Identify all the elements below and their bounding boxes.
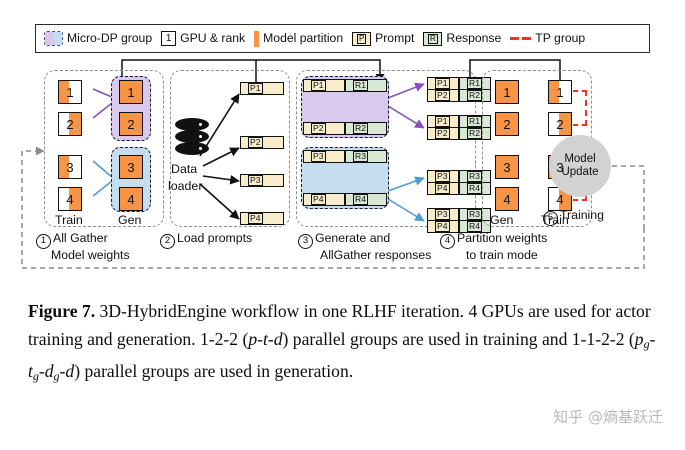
step-1-line2: Model weights: [51, 249, 130, 263]
stage4-gen-gpu-1[interactable]: 1: [495, 80, 519, 104]
step-3-line2: AllGather responses: [320, 249, 431, 263]
prompt-tag: P1: [311, 80, 326, 91]
step-number-5: 5: [543, 211, 558, 226]
prompt-tag: P3: [248, 175, 263, 186]
gpu-rank-label: 4: [496, 188, 518, 210]
data-loader-label-2: loader: [168, 180, 202, 192]
model-partition-icon: [254, 31, 259, 47]
stage3-left-row-2: P2 R2: [303, 122, 387, 135]
prompt-tag: P2: [248, 137, 263, 148]
stage5-training-label: 5Training: [543, 209, 604, 226]
caption-dg: -d: [39, 361, 54, 381]
caption-dash-1: -: [650, 329, 656, 349]
stage1-gen-gpu-1[interactable]: 1: [119, 80, 143, 104]
prompt-tag: P3: [435, 171, 450, 182]
tp-group-bracket-top: [573, 90, 587, 126]
gpu-rank-label: 4: [59, 188, 81, 210]
gpu-rank-label: 4: [549, 188, 571, 210]
stage3-left-row-1: P1 R1: [303, 79, 387, 92]
stage4-gen-gpu-2[interactable]: 2: [495, 112, 519, 136]
response-tag: R4: [467, 183, 482, 194]
stage1-train-gpu-3[interactable]: 3: [58, 155, 82, 179]
gpu-rank-label: 3: [120, 156, 142, 178]
stage2-prompt-2: P2: [240, 136, 284, 149]
legend-label-prompt: Prompt: [375, 32, 414, 44]
response-tag: R2: [467, 128, 482, 139]
legend-label-micro-dp-group: Micro-DP group: [67, 32, 152, 44]
figure-page: Micro-DP group 1 GPU & rank Model partit…: [0, 0, 685, 450]
legend-bar: Micro-DP group 1 GPU & rank Model partit…: [35, 24, 650, 53]
prompt-tag: P1: [435, 116, 450, 127]
response-tag: R2: [467, 90, 482, 101]
legend-item-micro-dp-group: Micro-DP group: [44, 31, 152, 46]
step-caption-2: 2Load prompts: [160, 232, 252, 249]
response-icon: R: [423, 32, 442, 46]
stage1-train-gpu-1[interactable]: 1: [58, 80, 82, 104]
workflow-diagram: 1 2 3 4 1 2 3 4 Train: [0, 56, 685, 281]
legend-item-response: R Response: [423, 32, 501, 46]
legend-label-gpu-rank: GPU & rank: [180, 32, 245, 44]
stage1-gen-gpu-3[interactable]: 3: [119, 155, 143, 179]
prompt-tag: P2: [311, 123, 326, 134]
prompt-tag: P3: [311, 151, 326, 162]
step-number-1: 1: [36, 234, 51, 249]
stage4-train-gpu-2[interactable]: 2: [548, 112, 572, 136]
response-tag: R1: [467, 116, 482, 127]
caption-line-4: ) parallel groups are used in generation…: [74, 361, 353, 381]
response-tag: R3: [353, 151, 368, 162]
stage2-prompt-3: P3: [240, 174, 284, 187]
stage1-gen-gpu-4[interactable]: 4: [119, 187, 143, 211]
step-caption-4: 4Partition weights to train mode: [440, 232, 547, 263]
stage3-left-row-3: P3 R3: [303, 150, 387, 163]
legend-item-gpu-rank: 1 GPU & rank: [161, 31, 245, 46]
prompt-tag: P4: [311, 194, 326, 205]
stage1-gen-gpu-2[interactable]: 2: [119, 112, 143, 136]
gpu-rank-label: 1: [120, 81, 142, 103]
step-4-line2: to train mode: [466, 249, 547, 263]
stage4-train-gpu-4[interactable]: 4: [548, 187, 572, 211]
data-loader-icon: [175, 118, 209, 156]
prompt-tag: P4: [248, 213, 263, 224]
response-tag: R3: [467, 209, 482, 220]
gpu-rank-label: 2: [120, 113, 142, 135]
caption-d: -d: [60, 361, 75, 381]
legend-item-prompt: P Prompt: [352, 32, 414, 46]
step-number-4: 4: [440, 234, 455, 249]
response-tag: R1: [467, 78, 482, 89]
stage3-left-row-4: P4 R4: [303, 193, 387, 206]
micro-dp-group-icon: [44, 31, 63, 46]
prompt-icon-glyph: P: [357, 34, 366, 44]
legend-label-response: Response: [446, 32, 501, 44]
prompt-tag: P2: [435, 90, 450, 101]
prompt-tag: P4: [435, 183, 450, 194]
tp-group-icon: [510, 37, 531, 40]
figure-caption: Figure 7. 3D-HybridEngine workflow in on…: [28, 298, 664, 391]
stage2-prompt-4: P4: [240, 212, 284, 225]
caption-ptd: p-t-d: [248, 329, 282, 349]
caption-pg: p: [635, 329, 644, 349]
gpu-rank-label: 1: [496, 81, 518, 103]
prompt-tag: P1: [248, 83, 263, 94]
watermark: 知乎 @熵基跃迁: [553, 406, 663, 427]
stage5-label-text: Training: [560, 208, 604, 222]
response-tag: R2: [353, 123, 368, 134]
step-3-line1: Generate and: [315, 231, 390, 245]
prompt-tag: P3: [435, 209, 450, 220]
legend-item-model-partition: Model partition: [254, 31, 343, 47]
step-1-line1: All Gather: [53, 231, 108, 245]
data-loader-label-1: Data: [171, 163, 197, 175]
response-tag: R4: [353, 194, 368, 205]
step-2-line1: Load prompts: [177, 231, 252, 245]
legend-label-model-partition: Model partition: [263, 32, 343, 44]
stage4-gen-gpu-3[interactable]: 3: [495, 155, 519, 179]
stage4-train-gpu-3[interactable]: 3: [548, 155, 572, 179]
legend-item-tp-group: TP group: [510, 32, 585, 44]
gpu-rank-label: 3: [59, 156, 81, 178]
response-tag: R3: [467, 171, 482, 182]
gpu-rank-label: 3: [496, 156, 518, 178]
step-caption-1: 1All Gather Model weights: [36, 232, 130, 263]
stage1-gen-label: Gen: [118, 214, 141, 226]
prompt-tag: P4: [435, 221, 450, 232]
response-tag: R1: [353, 80, 368, 91]
gpu-rank-label: 3: [549, 156, 571, 178]
legend-label-tp-group: TP group: [535, 32, 585, 44]
stage2-prompt-1: P1: [240, 82, 284, 95]
gpu-rank-label: 2: [549, 113, 571, 135]
step-number-2: 2: [160, 234, 175, 249]
stage1-train-label: Train: [55, 214, 83, 226]
figure-label: Figure 7.: [28, 301, 95, 321]
prompt-tag: P2: [435, 128, 450, 139]
stage4-gen-label: Gen: [490, 214, 513, 226]
stage4-train-gpu-1[interactable]: 1: [548, 80, 572, 104]
prompt-icon: P: [352, 32, 371, 46]
step-number-3: 3: [298, 234, 313, 249]
step-4-line1: Partition weights: [457, 231, 547, 245]
response-icon-glyph: R: [428, 34, 438, 44]
gpu-rank-label: 2: [59, 113, 81, 135]
gpu-rank-label: 1: [549, 81, 571, 103]
caption-line-1: 3D-HybridEngine workflow in one RLHF ite…: [100, 301, 465, 321]
gpu-rank-label: 2: [496, 113, 518, 135]
figure-label-text: Figure 7.: [28, 301, 95, 321]
caption-line-3: ) parallel groups are used in training a…: [283, 329, 635, 349]
stage1-train-gpu-4[interactable]: 4: [58, 187, 82, 211]
prompt-tag: P1: [435, 78, 450, 89]
stage4-gen-gpu-4[interactable]: 4: [495, 187, 519, 211]
gpu-rank-label: 4: [120, 188, 142, 210]
step-caption-3: 3Generate and AllGather responses: [298, 232, 431, 263]
stage1-train-gpu-2[interactable]: 2: [58, 112, 82, 136]
gpu-rank-label: 1: [59, 81, 81, 103]
gpu-rank-icon: 1: [161, 31, 176, 46]
